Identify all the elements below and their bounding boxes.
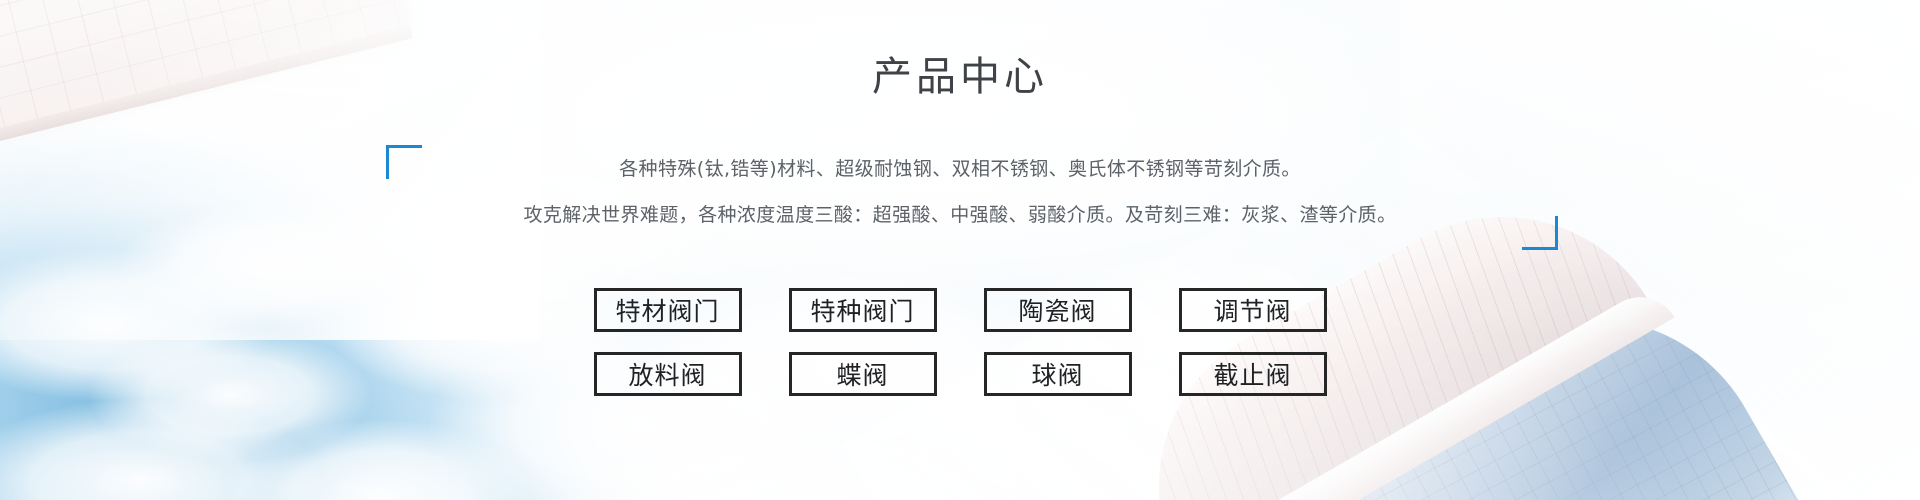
category-button-butterfly-valve[interactable]: 蝶阀 [789,352,937,396]
product-center-banner: 产品中心 各种特殊(钛,锆等)材料、超级耐蚀钢、双相不锈钢、奥氏体不锈钢等苛刻介… [0,0,1920,500]
category-button-ball-valve[interactable]: 球阀 [984,352,1132,396]
category-button-discharge-valve[interactable]: 放料阀 [594,352,742,396]
category-button-ceramic-valve[interactable]: 陶瓷阀 [984,288,1132,332]
category-button-globe-valve[interactable]: 截止阀 [1179,352,1327,396]
page-title: 产品中心 [0,52,1920,102]
bracket-bottom-right-decoration [1522,216,1558,250]
description-block: 各种特殊(钛,锆等)材料、超级耐蚀钢、双相不锈钢、奥氏体不锈钢等苛刻介质。 攻克… [0,146,1920,238]
category-row-2: 放料阀 蝶阀 球阀 截止阀 [594,352,1327,396]
category-row-1: 特材阀门 特种阀门 陶瓷阀 调节阀 [594,288,1327,332]
description-line-1: 各种特殊(钛,锆等)材料、超级耐蚀钢、双相不锈钢、奥氏体不锈钢等苛刻介质。 [0,146,1920,192]
category-button-control-valve[interactable]: 调节阀 [1179,288,1327,332]
description-line-2: 攻克解决世界难题，各种浓度温度三酸：超强酸、中强酸、弱酸介质。及苛刻三难：灰浆、… [0,192,1920,238]
category-button-special-valve[interactable]: 特种阀门 [789,288,937,332]
bracket-top-left-decoration [386,145,422,179]
category-button-techai-valve[interactable]: 特材阀门 [594,288,742,332]
banner-content: 产品中心 各种特殊(钛,锆等)材料、超级耐蚀钢、双相不锈钢、奥氏体不锈钢等苛刻介… [0,0,1920,500]
category-button-grid: 特材阀门 特种阀门 陶瓷阀 调节阀 放料阀 蝶阀 球阀 截止阀 [0,288,1920,396]
